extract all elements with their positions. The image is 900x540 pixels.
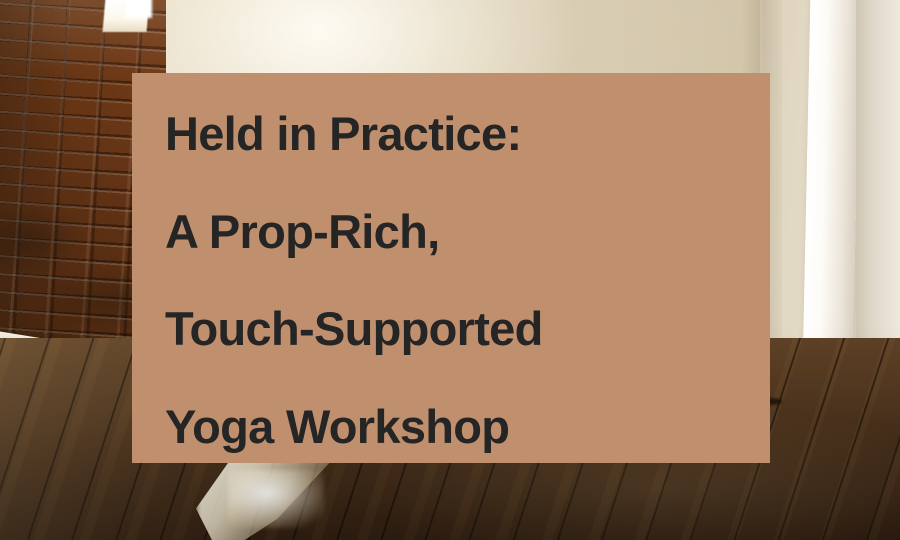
headline-line-3: Touch-Supported	[132, 280, 770, 378]
title-card-graphic: Held in Practice: A Prop-Rich, Touch-Sup…	[0, 0, 900, 540]
headline-line-4: Yoga Workshop	[132, 378, 770, 476]
sunlight-patch-core	[228, 470, 324, 528]
headline-line-1: Held in Practice:	[132, 73, 770, 183]
headline-overlay-card: Held in Practice: A Prop-Rich, Touch-Sup…	[132, 73, 770, 463]
headline-line-2: A Prop-Rich,	[132, 183, 770, 281]
window-light-highlight	[126, 0, 152, 18]
